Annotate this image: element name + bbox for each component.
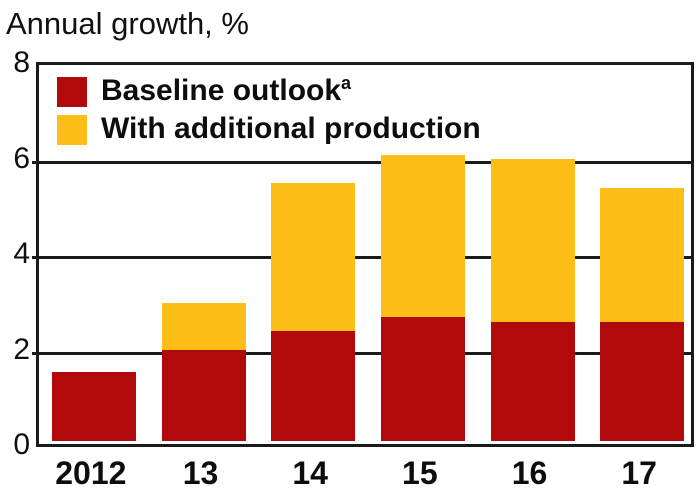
legend-item: Baseline outlooka bbox=[57, 74, 617, 112]
x-axis-label: 17 bbox=[584, 452, 694, 494]
bar-segment-baseline bbox=[491, 322, 575, 441]
y-axis-label: 0 bbox=[0, 430, 30, 460]
bar-segment-additional bbox=[600, 188, 684, 322]
legend-footnote-marker: a bbox=[341, 73, 351, 93]
x-axis-label: 16 bbox=[475, 452, 585, 494]
bar-segment-baseline bbox=[381, 317, 465, 441]
x-axis-label: 2012 bbox=[36, 452, 146, 494]
x-axis-label: 14 bbox=[255, 452, 365, 494]
gridline-6 bbox=[39, 161, 691, 164]
bar-segment-additional bbox=[271, 183, 355, 331]
bar-segment-baseline bbox=[52, 372, 136, 441]
legend-color-swatch bbox=[57, 115, 87, 145]
legend-item-label: Baseline outlooka bbox=[101, 74, 351, 108]
legend-color-swatch bbox=[57, 77, 87, 107]
y-axis-label: 8 bbox=[0, 48, 30, 78]
y-axis-label: 6 bbox=[0, 144, 30, 174]
y-axis-label: 2 bbox=[0, 335, 30, 365]
x-axis: 20121314151617 bbox=[36, 452, 694, 500]
bar-segment-baseline bbox=[600, 322, 684, 441]
bar-segment-baseline bbox=[162, 350, 246, 441]
y-axis-label: 4 bbox=[0, 239, 30, 269]
bar-segment-additional bbox=[491, 159, 575, 321]
x-axis-label: 15 bbox=[365, 452, 475, 494]
legend-item: With additional production bbox=[57, 112, 617, 150]
bar-segment-additional bbox=[162, 303, 246, 351]
bar-segment-baseline bbox=[271, 331, 355, 441]
y-axis: 02468 bbox=[0, 62, 30, 447]
chart-container: Annual growth, % 02468 20121314151617 Ba… bbox=[0, 0, 700, 503]
x-axis-label: 13 bbox=[146, 452, 256, 494]
y-tick-mark-6 bbox=[32, 161, 39, 164]
bar-segment-additional bbox=[381, 155, 465, 317]
gridline-4 bbox=[39, 256, 691, 259]
y-tick-mark-4 bbox=[32, 256, 39, 259]
chart-legend: Baseline outlookaWith additional product… bbox=[57, 74, 617, 150]
chart-title: Annual growth, % bbox=[6, 4, 249, 44]
y-tick-mark-2 bbox=[32, 352, 39, 355]
gridline-2 bbox=[39, 352, 691, 355]
legend-item-label: With additional production bbox=[101, 112, 481, 146]
